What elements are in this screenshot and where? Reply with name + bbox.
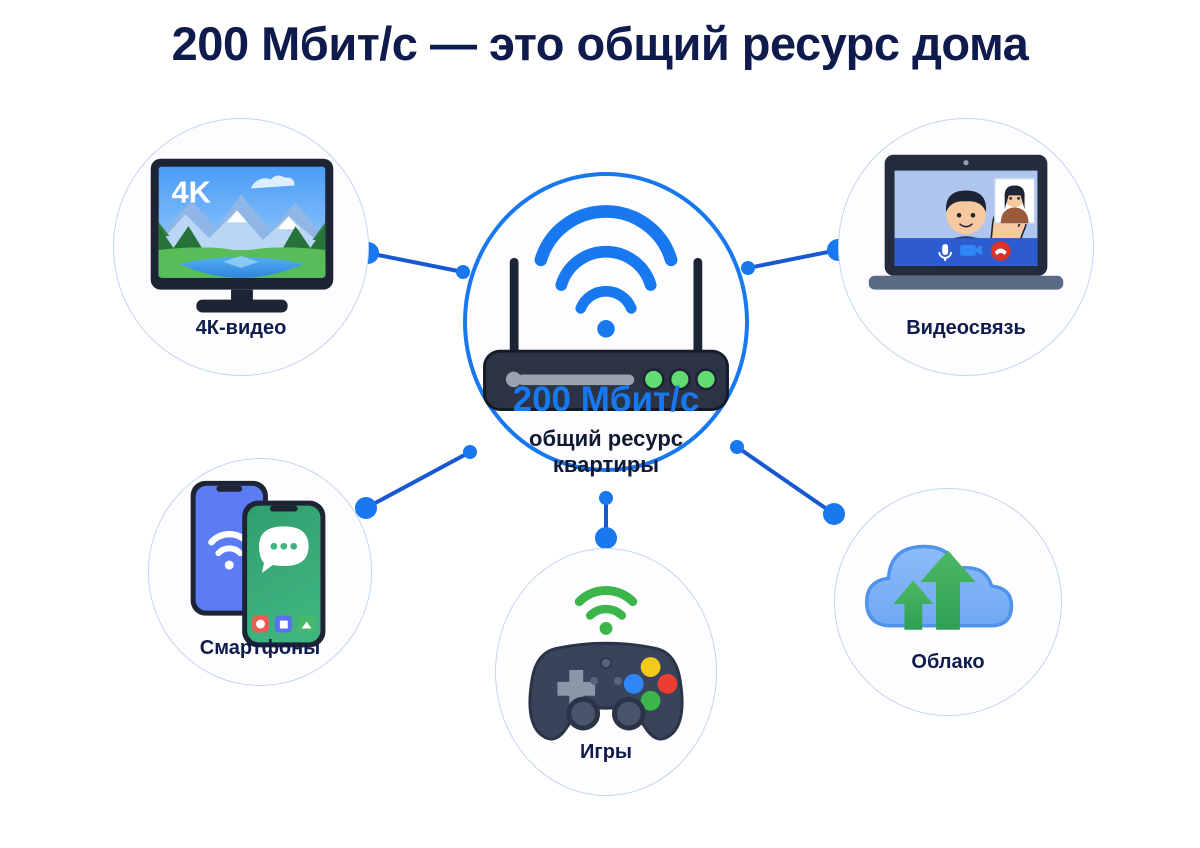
node-label-video: Видеосвязь xyxy=(839,317,1093,340)
hub-subtitle-line2: квартиры xyxy=(467,452,745,478)
hub-node-router[interactable]: 200 Мбит/с общий ресурс квартиры xyxy=(463,172,749,472)
node-tv-4k-video[interactable]: 4K 4К-видео xyxy=(113,118,369,376)
node-cloud[interactable]: Облако xyxy=(834,488,1062,716)
node-games[interactable]: Игры xyxy=(495,548,717,796)
node-smartphones[interactable]: Смартфоны xyxy=(148,458,372,686)
node-video-call[interactable]: Видеосвязь xyxy=(838,118,1094,376)
cloud-upload-icon xyxy=(835,489,1061,715)
node-label-tv: 4К-видео xyxy=(114,317,368,340)
hub-subtitle-line1: общий ресурс xyxy=(467,426,745,452)
node-label-phones: Смартфоны xyxy=(149,637,371,660)
infographic-canvas: 200 Мбит/с — это общий ресурс дома xyxy=(0,0,1200,848)
wifi-router-icon xyxy=(467,176,745,468)
hub-speed-value: 200 Мбит/с xyxy=(467,380,745,420)
svg-text:4K: 4K xyxy=(172,174,211,209)
node-label-cloud: Облако xyxy=(835,651,1061,674)
node-label-games: Игры xyxy=(496,741,716,764)
hangup-icon xyxy=(991,241,1011,261)
